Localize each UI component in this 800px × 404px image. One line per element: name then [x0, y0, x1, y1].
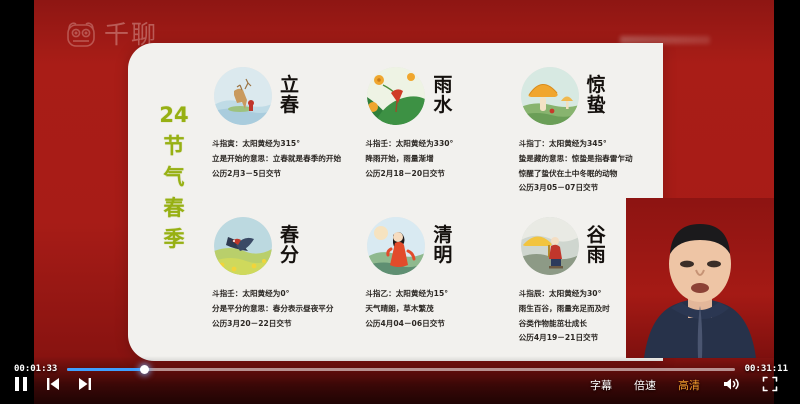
- term-name: 春分: [280, 226, 304, 266]
- term-description: 斗指丁：太阳黄经为345° 蛰是藏的意思：惊蛰是指春雷乍动 惊醒了蛰伏在土中冬眠…: [517, 137, 658, 196]
- video-player: 千聊 24 节 气 春 季: [0, 0, 800, 404]
- term-card: 清明 斗指乙：太阳黄经为15° 天气晴朗，草木繁茂 公历4月04－06日交节: [357, 205, 510, 355]
- term-name: 雨水: [433, 76, 457, 116]
- term-card: 立春 斗指寅：太阳黄经为315° 立是开始的意思：立春就是春季的开始 公历2月3…: [204, 55, 357, 205]
- progress-slider[interactable]: [67, 368, 734, 371]
- volume-button[interactable]: [722, 376, 740, 395]
- slide-card: 24 节 气 春 季: [128, 43, 663, 361]
- previous-button[interactable]: [46, 377, 60, 394]
- term-line: 惊醒了蛰伏在土中冬眠的动物: [519, 167, 658, 182]
- title-char-0: 24: [159, 105, 188, 126]
- term-card: 春分 斗指壬：太阳黄经为0° 分是平分的意思：春分表示昼夜平分 公历3月20－2…: [204, 205, 357, 355]
- term-description: 斗指寅：太阳黄经为315° 立是开始的意思：立春就是春季的开始 公历2月3－5日…: [210, 137, 351, 181]
- term-name: 立春: [280, 76, 304, 116]
- page-title: 24 节 气 春 季: [148, 105, 200, 250]
- term-line: 斗指壬：太阳黄经为330°: [365, 137, 504, 152]
- letterbox-right: [774, 0, 800, 404]
- presenter-video-overlay[interactable]: [626, 198, 774, 358]
- video-stage[interactable]: 千聊 24 节 气 春 季: [0, 0, 800, 404]
- subtitles-button[interactable]: 字幕: [590, 377, 612, 393]
- previous-track-icon: [46, 377, 60, 394]
- next-button[interactable]: [78, 377, 92, 394]
- girl-red-dress-icon: [367, 217, 425, 275]
- term-line: 公历4月04－06日交节: [365, 317, 504, 332]
- term-header: 清明: [363, 213, 504, 279]
- player-controls: 00:01:33 00:31:11: [0, 358, 800, 404]
- title-char-4: 季: [164, 229, 185, 250]
- next-track-icon: [78, 377, 92, 394]
- title-char-1: 节: [164, 136, 185, 157]
- title-char-2: 气: [164, 167, 185, 188]
- fullscreen-icon: [762, 376, 778, 395]
- term-header: 惊蛰: [517, 63, 658, 129]
- fullscreen-button[interactable]: [762, 376, 778, 395]
- mushroom-icon: [521, 67, 579, 125]
- term-line: 公历2月18－20日交节: [365, 167, 504, 182]
- yellow-umbrella-rain-icon: [521, 217, 579, 275]
- term-line: 斗指丁：太阳黄经为345°: [519, 137, 658, 152]
- pause-icon: [14, 376, 28, 395]
- term-line: 立是开始的意思：立春就是春季的开始: [212, 152, 351, 167]
- term-name: 惊蛰: [587, 76, 611, 116]
- presenter-figure: [626, 198, 774, 358]
- right-controls: 字幕 倍速 高清: [590, 376, 778, 395]
- term-line: 公历3月05－07日交节: [519, 181, 658, 196]
- playback-speed-button[interactable]: 倍速: [634, 377, 656, 393]
- term-description: 斗指壬：太阳黄经为330° 降雨开始，雨量渐增 公历2月18－20日交节: [363, 137, 504, 181]
- term-name: 清明: [433, 226, 457, 266]
- solar-terms-grid: 立春 斗指寅：太阳黄经为315° 立是开始的意思：立春就是春季的开始 公历2月3…: [204, 55, 663, 355]
- swallow-bird-icon: [214, 217, 272, 275]
- term-card: 雨水 斗指壬：太阳黄经为330° 降雨开始，雨量渐增 公历2月18－20日交节: [357, 55, 510, 205]
- term-line: 公历3月20－22日交节: [212, 317, 351, 332]
- term-line: 蛰是藏的意思：惊蛰是指春雷乍动: [519, 152, 658, 167]
- term-line: 斗指乙：太阳黄经为15°: [365, 287, 504, 302]
- term-line: 斗指寅：太阳黄经为315°: [212, 137, 351, 152]
- term-line: 天气晴朗，草木繁茂: [365, 302, 504, 317]
- letterbox-left: [0, 0, 34, 404]
- term-description: 斗指壬：太阳黄经为0° 分是平分的意思：春分表示昼夜平分 公历3月20－22日交…: [210, 287, 351, 331]
- term-header: 雨水: [363, 63, 504, 129]
- term-card: 惊蛰 斗指丁：太阳黄经为345° 蛰是藏的意思：惊蛰是指春雷乍动 惊醒了蛰伏在土…: [511, 55, 663, 205]
- quality-button[interactable]: 高清: [678, 377, 700, 393]
- term-line: 斗指壬：太阳黄经为0°: [212, 287, 351, 302]
- owl-mascot-icon: [64, 20, 98, 48]
- transport-controls: [14, 376, 92, 395]
- term-header: 立春: [210, 63, 351, 129]
- term-name: 谷雨: [587, 226, 611, 266]
- pause-button[interactable]: [14, 376, 28, 395]
- title-char-3: 春: [164, 198, 185, 219]
- term-description: 斗指乙：太阳黄经为15° 天气晴朗，草木繁茂 公历4月04－06日交节: [363, 287, 504, 331]
- term-header: 春分: [210, 213, 351, 279]
- deer-by-water-icon: [214, 67, 272, 125]
- red-umbrella-flowers-icon: [367, 67, 425, 125]
- term-line: 降雨开始，雨量渐增: [365, 152, 504, 167]
- volume-icon: [722, 376, 740, 395]
- buttons-row: 字幕 倍速 高清: [0, 372, 800, 398]
- term-line: 公历2月3－5日交节: [212, 167, 351, 182]
- term-line: 分是平分的意思：春分表示昼夜平分: [212, 302, 351, 317]
- progress-played: [67, 368, 144, 371]
